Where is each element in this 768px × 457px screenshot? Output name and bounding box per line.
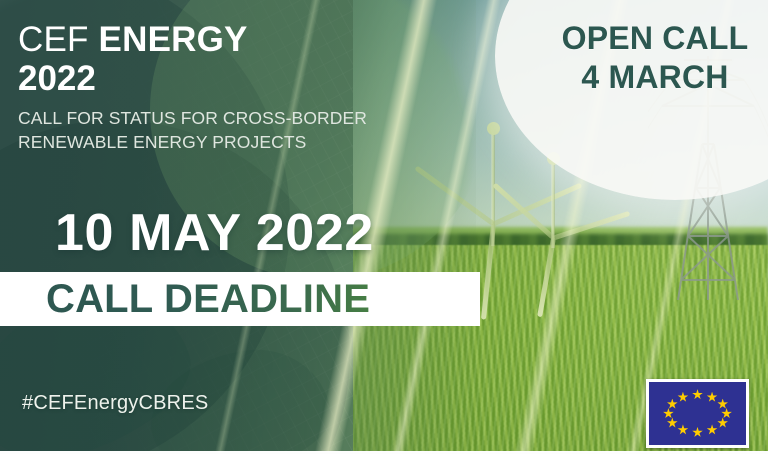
subtitle-line-2: RENEWABLE ENERGY PROJECTS <box>18 131 448 154</box>
bottom-border <box>0 451 768 454</box>
eu-flag-icon <box>646 379 749 448</box>
eu-star-icon <box>717 399 728 410</box>
deadline-date: 10 MAY 2022 <box>55 203 374 263</box>
subtitle: CALL FOR STATUS FOR CROSS-BORDER RENEWAB… <box>18 107 448 154</box>
eu-star-icon <box>692 427 703 438</box>
call-deadline-label: CALL DEADLINE <box>0 272 480 326</box>
title-cef: CEF <box>18 20 89 59</box>
page-title: CEF ENERGY <box>18 22 448 58</box>
eu-star-icon <box>667 417 678 428</box>
subtitle-line-1: CALL FOR STATUS FOR CROSS-BORDER <box>18 107 448 130</box>
eu-star-icon <box>692 389 703 400</box>
eu-star-icon <box>667 399 678 410</box>
eu-star-icon <box>707 424 718 435</box>
eu-star-icon <box>677 424 688 435</box>
eu-star-icon <box>707 392 718 403</box>
open-call-label: OPEN CALL <box>530 22 768 56</box>
eu-star-icon <box>677 392 688 403</box>
headline-block: CEF ENERGY 2022 CALL FOR STATUS FOR CROS… <box>18 22 448 154</box>
open-call-badge: OPEN CALL 4 MARCH <box>530 22 768 94</box>
open-call-date: 4 MARCH <box>530 61 768 95</box>
hashtag: #CEFEnergyCBRES <box>22 392 208 415</box>
cef-energy-call-banner: CEF ENERGY 2022 CALL FOR STATUS FOR CROS… <box>0 0 768 457</box>
eu-star-icon <box>721 408 732 419</box>
eu-star-icon <box>717 417 728 428</box>
title-year: 2022 <box>18 61 448 97</box>
title-energy: ENERGY <box>99 20 248 59</box>
eu-star-icon <box>663 408 674 419</box>
